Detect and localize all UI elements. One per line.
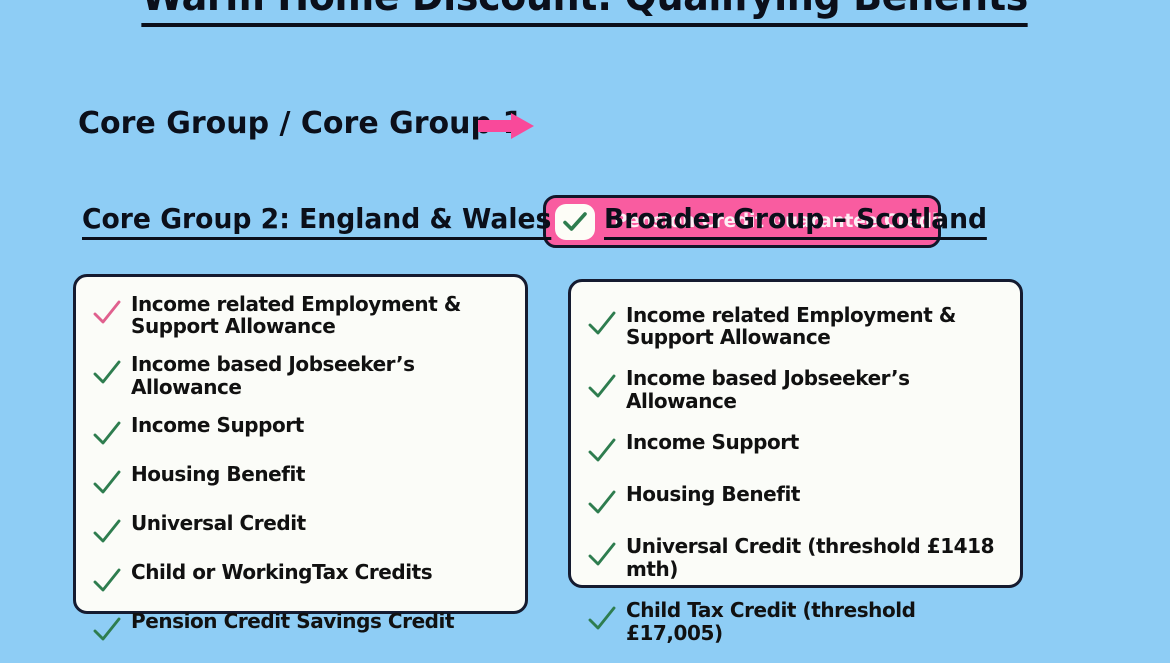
- section-heading-core-group-2: Core Group 2: England & Wales: [82, 202, 551, 240]
- benefit-item-label: Universal Credit (threshold £1418 mth): [626, 535, 1006, 580]
- list-item: Income based Jobseeker’s Allowance: [76, 353, 525, 398]
- list-item: Universal Credit (threshold £1418 mth): [571, 535, 1020, 580]
- benefit-item-label: Pension Credit Savings Credit: [131, 610, 454, 633]
- list-item: Housing Benefit: [571, 483, 1020, 516]
- benefits-panel-broader-group: Income related Employment & Support Allo…: [568, 279, 1023, 588]
- check-icon: [92, 617, 122, 643]
- page-title-container: Warm Home Discount: Qualifying Benefits: [0, 0, 1170, 27]
- benefits-panel-core-group-2: Income related Employment & Support Allo…: [73, 274, 528, 614]
- benefit-item-label: Housing Benefit: [626, 483, 800, 506]
- arrow-right-icon: [478, 113, 534, 139]
- check-icon: [92, 421, 122, 447]
- check-icon: [92, 360, 122, 386]
- benefit-item-label: Income related Employment & Support Allo…: [626, 304, 1006, 348]
- benefit-item-label: Universal Credit: [131, 512, 306, 535]
- list-item: Child Tax Credit (threshold £17,005): [571, 599, 1020, 644]
- core-group-row: Core Group / Core Group 1 Pension Credit…: [0, 96, 1170, 156]
- list-item: Income related Employment & Support Allo…: [571, 304, 1020, 348]
- benefit-item-label: Income Support: [131, 414, 304, 437]
- check-icon: [587, 374, 617, 400]
- check-icon: [587, 438, 617, 464]
- benefit-item-label: Income related Employment & Support Allo…: [131, 293, 511, 337]
- check-icon: [587, 311, 617, 337]
- check-icon: [587, 542, 617, 568]
- benefit-item-label: Child Tax Credit (threshold £17,005): [626, 599, 1006, 644]
- check-icon: [92, 300, 122, 326]
- list-item: Housing Benefit: [76, 463, 525, 496]
- core-group-label: Core Group / Core Group 1: [78, 96, 523, 152]
- list-item: Income Support: [571, 431, 1020, 464]
- list-item: Child or WorkingTax Credits: [76, 561, 525, 594]
- check-icon: [587, 490, 617, 516]
- check-icon: [562, 211, 588, 233]
- benefit-item-label: Income based Jobseeker’s Allowance: [131, 353, 511, 398]
- list-item: Income Support: [76, 414, 525, 447]
- check-icon: [92, 519, 122, 545]
- list-item: Universal Credit: [76, 512, 525, 545]
- page-title: Warm Home Discount: Qualifying Benefits: [142, 0, 1029, 27]
- benefits-list-broader-group: Income related Employment & Support Allo…: [571, 282, 1020, 663]
- list-item: Income related Employment & Support Allo…: [76, 293, 525, 337]
- benefit-item-label: Income Support: [626, 431, 799, 454]
- benefit-item-label: Housing Benefit: [131, 463, 305, 486]
- pension-credit-checkbox[interactable]: [555, 204, 595, 240]
- check-icon: [92, 470, 122, 496]
- benefits-list-core-group-2: Income related Employment & Support Allo…: [76, 277, 525, 659]
- section-heading-broader-group: Broader Group – Scotland: [604, 202, 987, 240]
- list-item: Income based Jobseeker’s Allowance: [571, 367, 1020, 412]
- check-icon: [587, 606, 617, 632]
- check-icon: [92, 568, 122, 594]
- list-item: Pension Credit Savings Credit: [76, 610, 525, 643]
- benefit-item-label: Income based Jobseeker’s Allowance: [626, 367, 1006, 412]
- benefit-item-label: Child or WorkingTax Credits: [131, 561, 432, 584]
